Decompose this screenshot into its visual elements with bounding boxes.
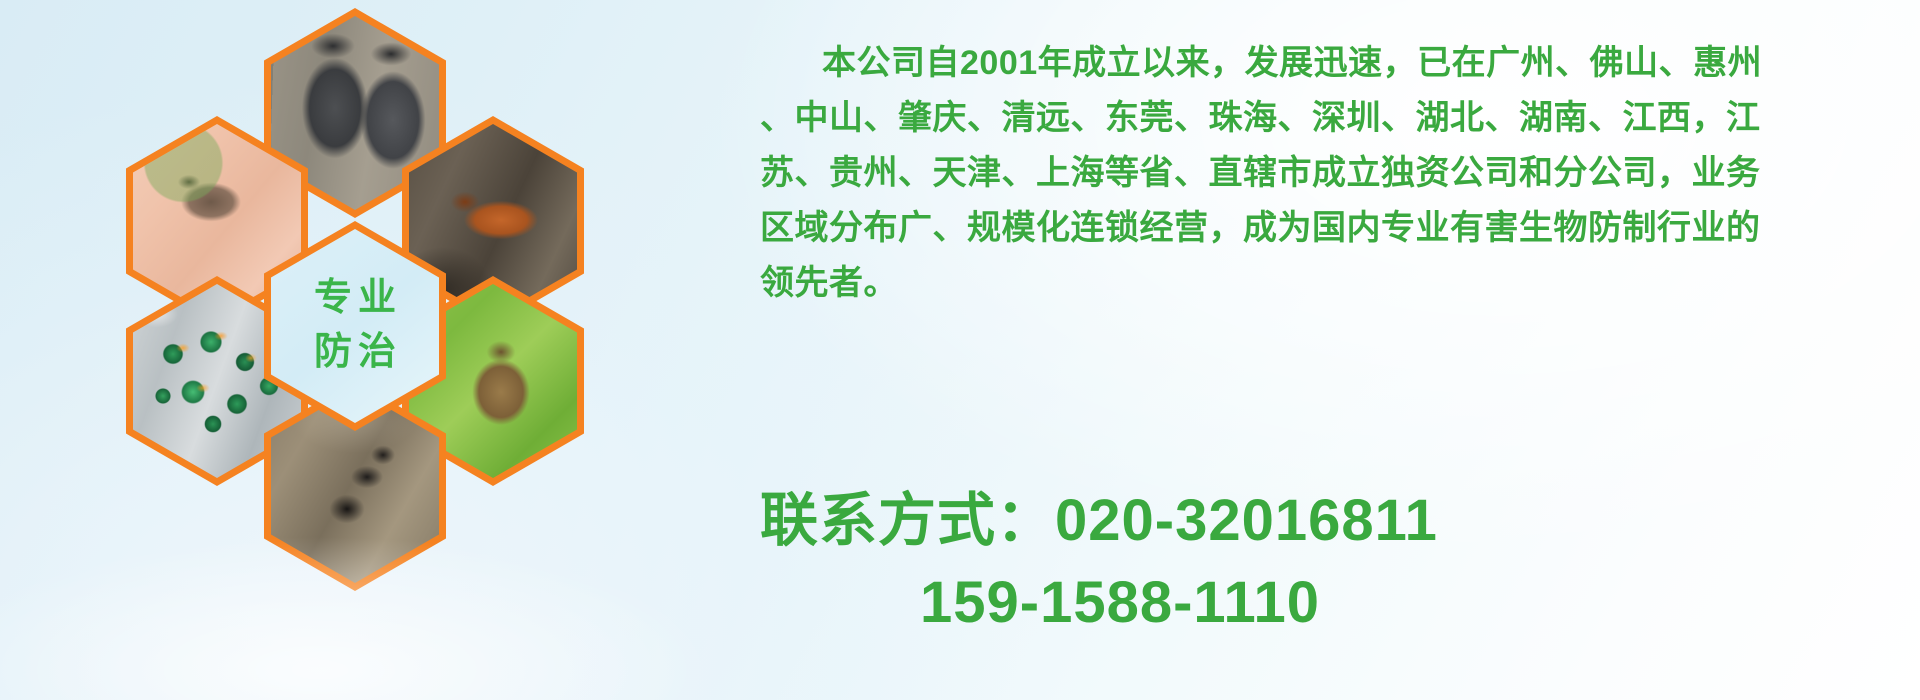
slogan-line-2: 防治 xyxy=(308,326,402,380)
description-line-4: 区域分布广、规模化连锁经营，成为国内专业有害生物防制行业的 xyxy=(760,201,1900,256)
description-line-5: 领先者。 xyxy=(760,256,1900,311)
description-line-1: 本公司自2001年成立以来，发展迅速，已在广州、佛山、惠州 xyxy=(760,36,1900,91)
hexagon-photo-cluster: 专业 防治 xyxy=(90,6,590,566)
slogan-line-1: 专业 xyxy=(308,272,402,326)
contact-secondary: 159-1588-1110 xyxy=(760,562,1920,644)
promo-banner: 专业 防治 本公司自2001年成立以来，发展迅速，已在广州、佛山、惠州 、中山、… xyxy=(0,0,1920,700)
company-description: 本公司自2001年成立以来，发展迅速，已在广州、佛山、惠州 、中山、肇庆、清远、… xyxy=(760,36,1900,311)
description-line-3: 苏、贵州、天津、上海等省、直辖市成立独资公司和分公司，业务 xyxy=(760,146,1900,201)
contact-primary: 联系方式：020-32016811 xyxy=(760,480,1920,562)
contact-block: 联系方式：020-32016811 159-1588-1110 xyxy=(760,480,1920,644)
description-line-2: 、中山、肇庆、清远、东莞、珠海、深圳、湖北、湖南、江西，江 xyxy=(760,91,1900,146)
